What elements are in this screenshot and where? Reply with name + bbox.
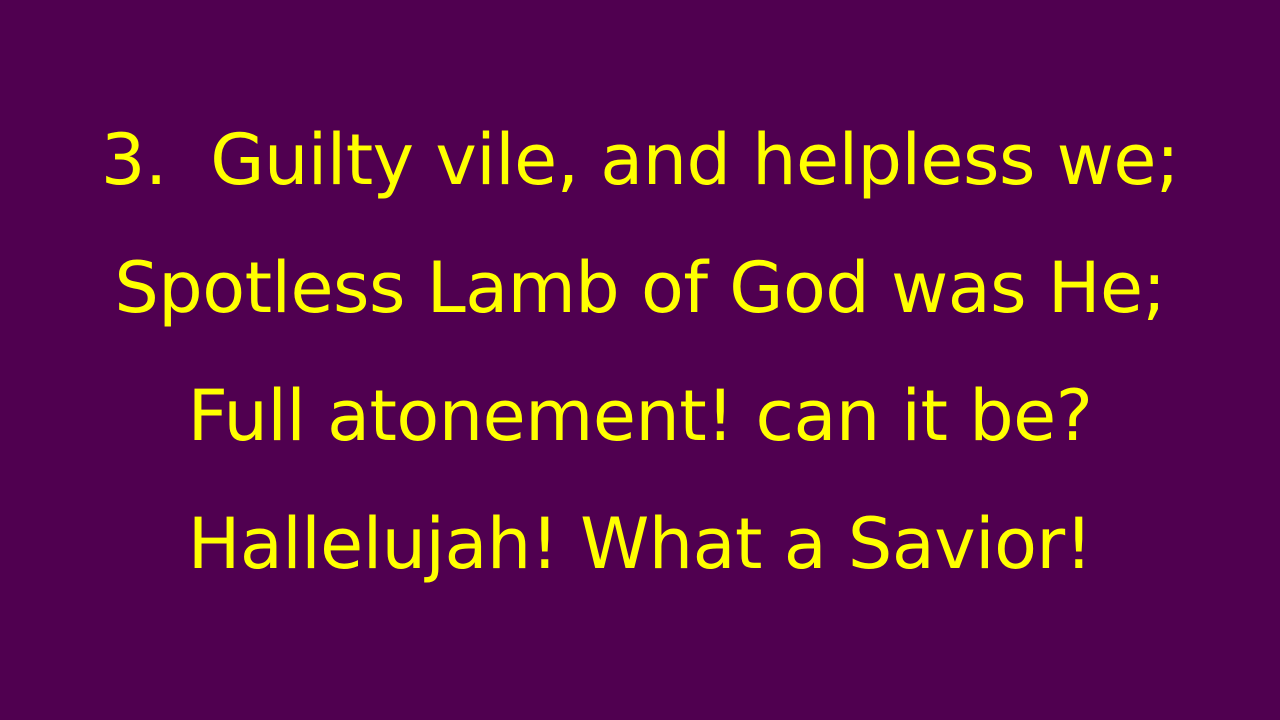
- lyric-line-1: 3. Guilty vile, and helpless we;: [30, 96, 1250, 224]
- lyric-line-2: Spotless Lamb of God was He;: [30, 224, 1250, 352]
- lyric-block: 3. Guilty vile, and helpless we; Spotles…: [30, 0, 1250, 608]
- presentation-slide: 3. Guilty vile, and helpless we; Spotles…: [0, 0, 1280, 720]
- lyric-line-3: Full atonement! can it be?: [30, 352, 1250, 480]
- lyric-line-4: Hallelujah! What a Savior!: [30, 480, 1250, 608]
